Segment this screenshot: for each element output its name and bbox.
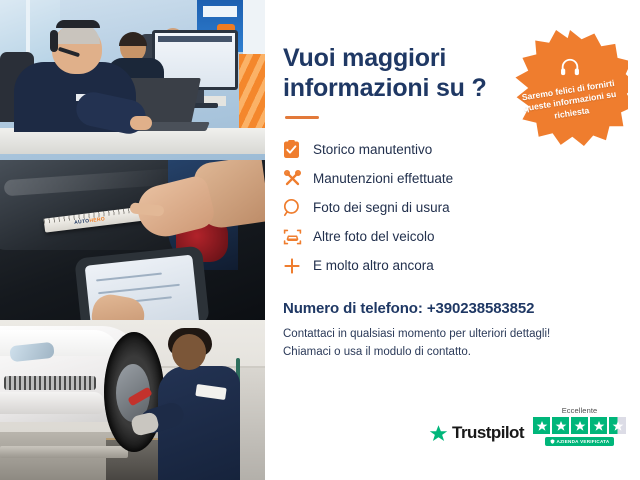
- call-center-agents-photo: [0, 0, 265, 160]
- vehicle-lift-arm: [0, 446, 128, 458]
- headset-band: [56, 20, 100, 28]
- verified-label: AZIENDA VERIFICATA: [557, 439, 610, 444]
- list-item: E molto altro ancora: [283, 251, 640, 280]
- status-badge: AZIENDA VERIFICATA: [545, 437, 615, 446]
- list-item: Altre foto del veicolo: [283, 222, 640, 251]
- list-item: Foto dei segni di usura: [283, 193, 640, 222]
- trustpilot-rating-label: Eccellente: [562, 406, 598, 415]
- feature-label: Foto dei segni di usura: [309, 200, 450, 215]
- magnifier-icon: [283, 197, 309, 219]
- car-grille: [4, 376, 96, 390]
- mechanic-workshop-photo: [0, 320, 265, 480]
- feature-label: Altre foto del veicolo: [309, 229, 435, 244]
- photo-column: AUTOHERO: [0, 0, 265, 480]
- callout-badge: Saremo felici di fornirti queste informa…: [512, 30, 628, 146]
- star-half: [609, 417, 626, 434]
- headset-earpiece: [50, 30, 58, 52]
- page-title: Vuoi maggiori informazioni su ?: [283, 44, 535, 103]
- monitor-toolbar: [158, 36, 232, 42]
- trustpilot-wordmark: Trustpilot: [452, 423, 524, 443]
- title-divider: [285, 116, 319, 119]
- check-shield-icon: [550, 439, 555, 444]
- car-viewfinder-icon: [283, 226, 309, 248]
- poster-white-band: [203, 6, 237, 17]
- trustpilot-stars: [533, 417, 626, 434]
- info-promo-card: AUTOHERO: [0, 0, 640, 480]
- feature-label: Storico manutentivo: [309, 142, 432, 157]
- list-item: Manutenzioni effettuate: [283, 164, 640, 193]
- trustpilot-star-icon: [429, 424, 448, 443]
- feature-label: Manutenzioni effettuate: [309, 171, 453, 186]
- star-filled: [571, 417, 588, 434]
- star-filled: [590, 417, 607, 434]
- body-text-line-1: Contattaci in qualsiasi momento per ulte…: [283, 326, 573, 344]
- trustpilot-rating[interactable]: Trustpilot Eccellente AZIENDA VERIFICATA: [429, 406, 626, 446]
- agent-1-hand: [130, 116, 152, 130]
- plus-icon: [283, 255, 309, 277]
- trustpilot-score-block: Eccellente AZIENDA VERIFICATA: [533, 406, 626, 446]
- tools-cross-icon: [283, 168, 309, 190]
- vehicle-inspection-photo: AUTOHERO: [0, 160, 265, 320]
- star-filled: [533, 417, 550, 434]
- star-filled: [552, 417, 569, 434]
- headset-icon: [559, 57, 581, 84]
- feature-list: Storico manutentivo Manutenzioni effettu…: [283, 135, 640, 280]
- body-text-line-2: Chiamaci o usa il modulo di contatto.: [283, 344, 573, 362]
- phone-number[interactable]: Numero di telefono: +390238583852: [283, 300, 640, 317]
- car-bumper: [0, 392, 104, 414]
- ruler-brand-auto: AUTO: [74, 218, 90, 226]
- feature-label: E molto altro ancora: [309, 258, 434, 273]
- trustpilot-logo: Trustpilot: [429, 423, 524, 446]
- orange-shelving: [239, 54, 265, 134]
- mechanic-head: [172, 334, 206, 370]
- ruler-brand-hero: HERO: [89, 216, 105, 224]
- clipboard-check-icon: [283, 139, 309, 161]
